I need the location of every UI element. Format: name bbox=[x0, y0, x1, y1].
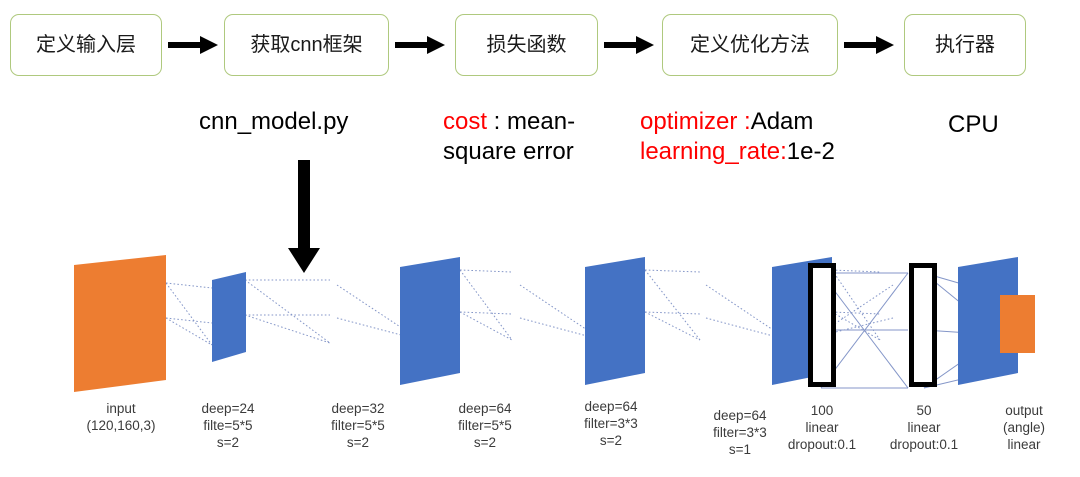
caption-line: deep=24 bbox=[173, 400, 283, 417]
caption-line: s=2 bbox=[303, 434, 413, 451]
optimizer-key: optimizer bbox=[640, 108, 737, 135]
diagram-canvas: 定义输入层 获取cnn框架 损失函数 定义优化方法 执行器 cnn_model.… bbox=[0, 0, 1080, 477]
caption-line: filter=5*5 bbox=[303, 417, 413, 434]
caption-line: input bbox=[56, 400, 186, 417]
device-text: CPU bbox=[948, 111, 999, 138]
flow-box-define-optimizer[interactable]: 定义优化方法 bbox=[662, 14, 838, 76]
caption-line: (angle) bbox=[980, 419, 1068, 436]
optimizer-value: Adam bbox=[751, 108, 814, 135]
caption-line: linear bbox=[980, 436, 1068, 453]
annotation-cost: cost : mean- square error bbox=[443, 107, 575, 167]
flow-arrow-2 bbox=[395, 33, 447, 57]
cost-value-line1: mean- bbox=[507, 108, 575, 135]
flow-box-label: 损失函数 bbox=[487, 35, 567, 55]
flow-box-label: 定义输入层 bbox=[36, 35, 136, 55]
caption-line: filter=5*5 bbox=[430, 417, 540, 434]
cost-key: cost bbox=[443, 108, 487, 135]
caption-input-layer: input (120,160,3) bbox=[56, 400, 186, 434]
flow-arrow-3 bbox=[604, 33, 656, 57]
flow-box-label: 执行器 bbox=[935, 35, 995, 55]
caption-line: linear bbox=[766, 419, 878, 436]
flow-arrow-1 bbox=[168, 33, 220, 57]
caption-line: deep=32 bbox=[303, 400, 413, 417]
flow-box-executor[interactable]: 执行器 bbox=[904, 14, 1026, 76]
layer-fc-layer-1[interactable] bbox=[808, 263, 836, 387]
caption-line: s=2 bbox=[556, 432, 666, 449]
caption-conv-layer-2: deep=32 filter=5*5 s=2 bbox=[303, 400, 413, 451]
caption-line: filte=5*5 bbox=[173, 417, 283, 434]
annotation-optimizer: optimizer :Adam learning_rate:1e-2 bbox=[640, 107, 835, 167]
learning-rate-key: learning_rate: bbox=[640, 138, 787, 165]
optimizer-separator: : bbox=[737, 108, 750, 135]
flow-box-define-input-layer[interactable]: 定义输入层 bbox=[10, 14, 162, 76]
flow-box-label: 定义优化方法 bbox=[690, 35, 810, 55]
caption-line: deep=64 bbox=[430, 400, 540, 417]
caption-fc-layer-1: 100 linear dropout:0.1 bbox=[766, 402, 878, 453]
caption-line: deep=64 bbox=[556, 398, 666, 415]
annotation-model-file: cnn_model.py bbox=[199, 107, 348, 137]
caption-conv-layer-3: deep=64 filter=5*5 s=2 bbox=[430, 400, 540, 451]
caption-conv-layer-4: deep=64 filter=3*3 s=2 bbox=[556, 398, 666, 449]
model-file-text: cnn_model.py bbox=[199, 108, 348, 135]
layer-fc-layer-2[interactable] bbox=[909, 263, 937, 387]
flow-arrow-4 bbox=[844, 33, 896, 57]
caption-line: dropout:0.1 bbox=[766, 436, 878, 453]
flow-box-get-cnn-framework[interactable]: 获取cnn框架 bbox=[224, 14, 389, 76]
learning-rate-value: 1e-2 bbox=[787, 138, 835, 165]
caption-output-layer: output (angle) linear bbox=[980, 402, 1068, 453]
caption-line: filter=3*3 bbox=[556, 415, 666, 432]
caption-line: 100 bbox=[766, 402, 878, 419]
cost-value-line2: square error bbox=[443, 138, 574, 165]
cost-separator: : bbox=[487, 108, 507, 135]
flow-box-label: 获取cnn框架 bbox=[250, 35, 362, 55]
caption-line: s=2 bbox=[173, 434, 283, 451]
layer-output-layer[interactable] bbox=[1000, 295, 1035, 353]
caption-line: output bbox=[980, 402, 1068, 419]
caption-line: (120,160,3) bbox=[56, 417, 186, 434]
caption-line: linear bbox=[868, 419, 980, 436]
flow-box-loss-function[interactable]: 损失函数 bbox=[455, 14, 598, 76]
caption-line: s=2 bbox=[430, 434, 540, 451]
caption-line: 50 bbox=[868, 402, 980, 419]
caption-line: dropout:0.1 bbox=[868, 436, 980, 453]
annotation-device: CPU bbox=[948, 110, 999, 140]
caption-fc-layer-2: 50 linear dropout:0.1 bbox=[868, 402, 980, 453]
caption-conv-layer-1: deep=24 filte=5*5 s=2 bbox=[173, 400, 283, 451]
